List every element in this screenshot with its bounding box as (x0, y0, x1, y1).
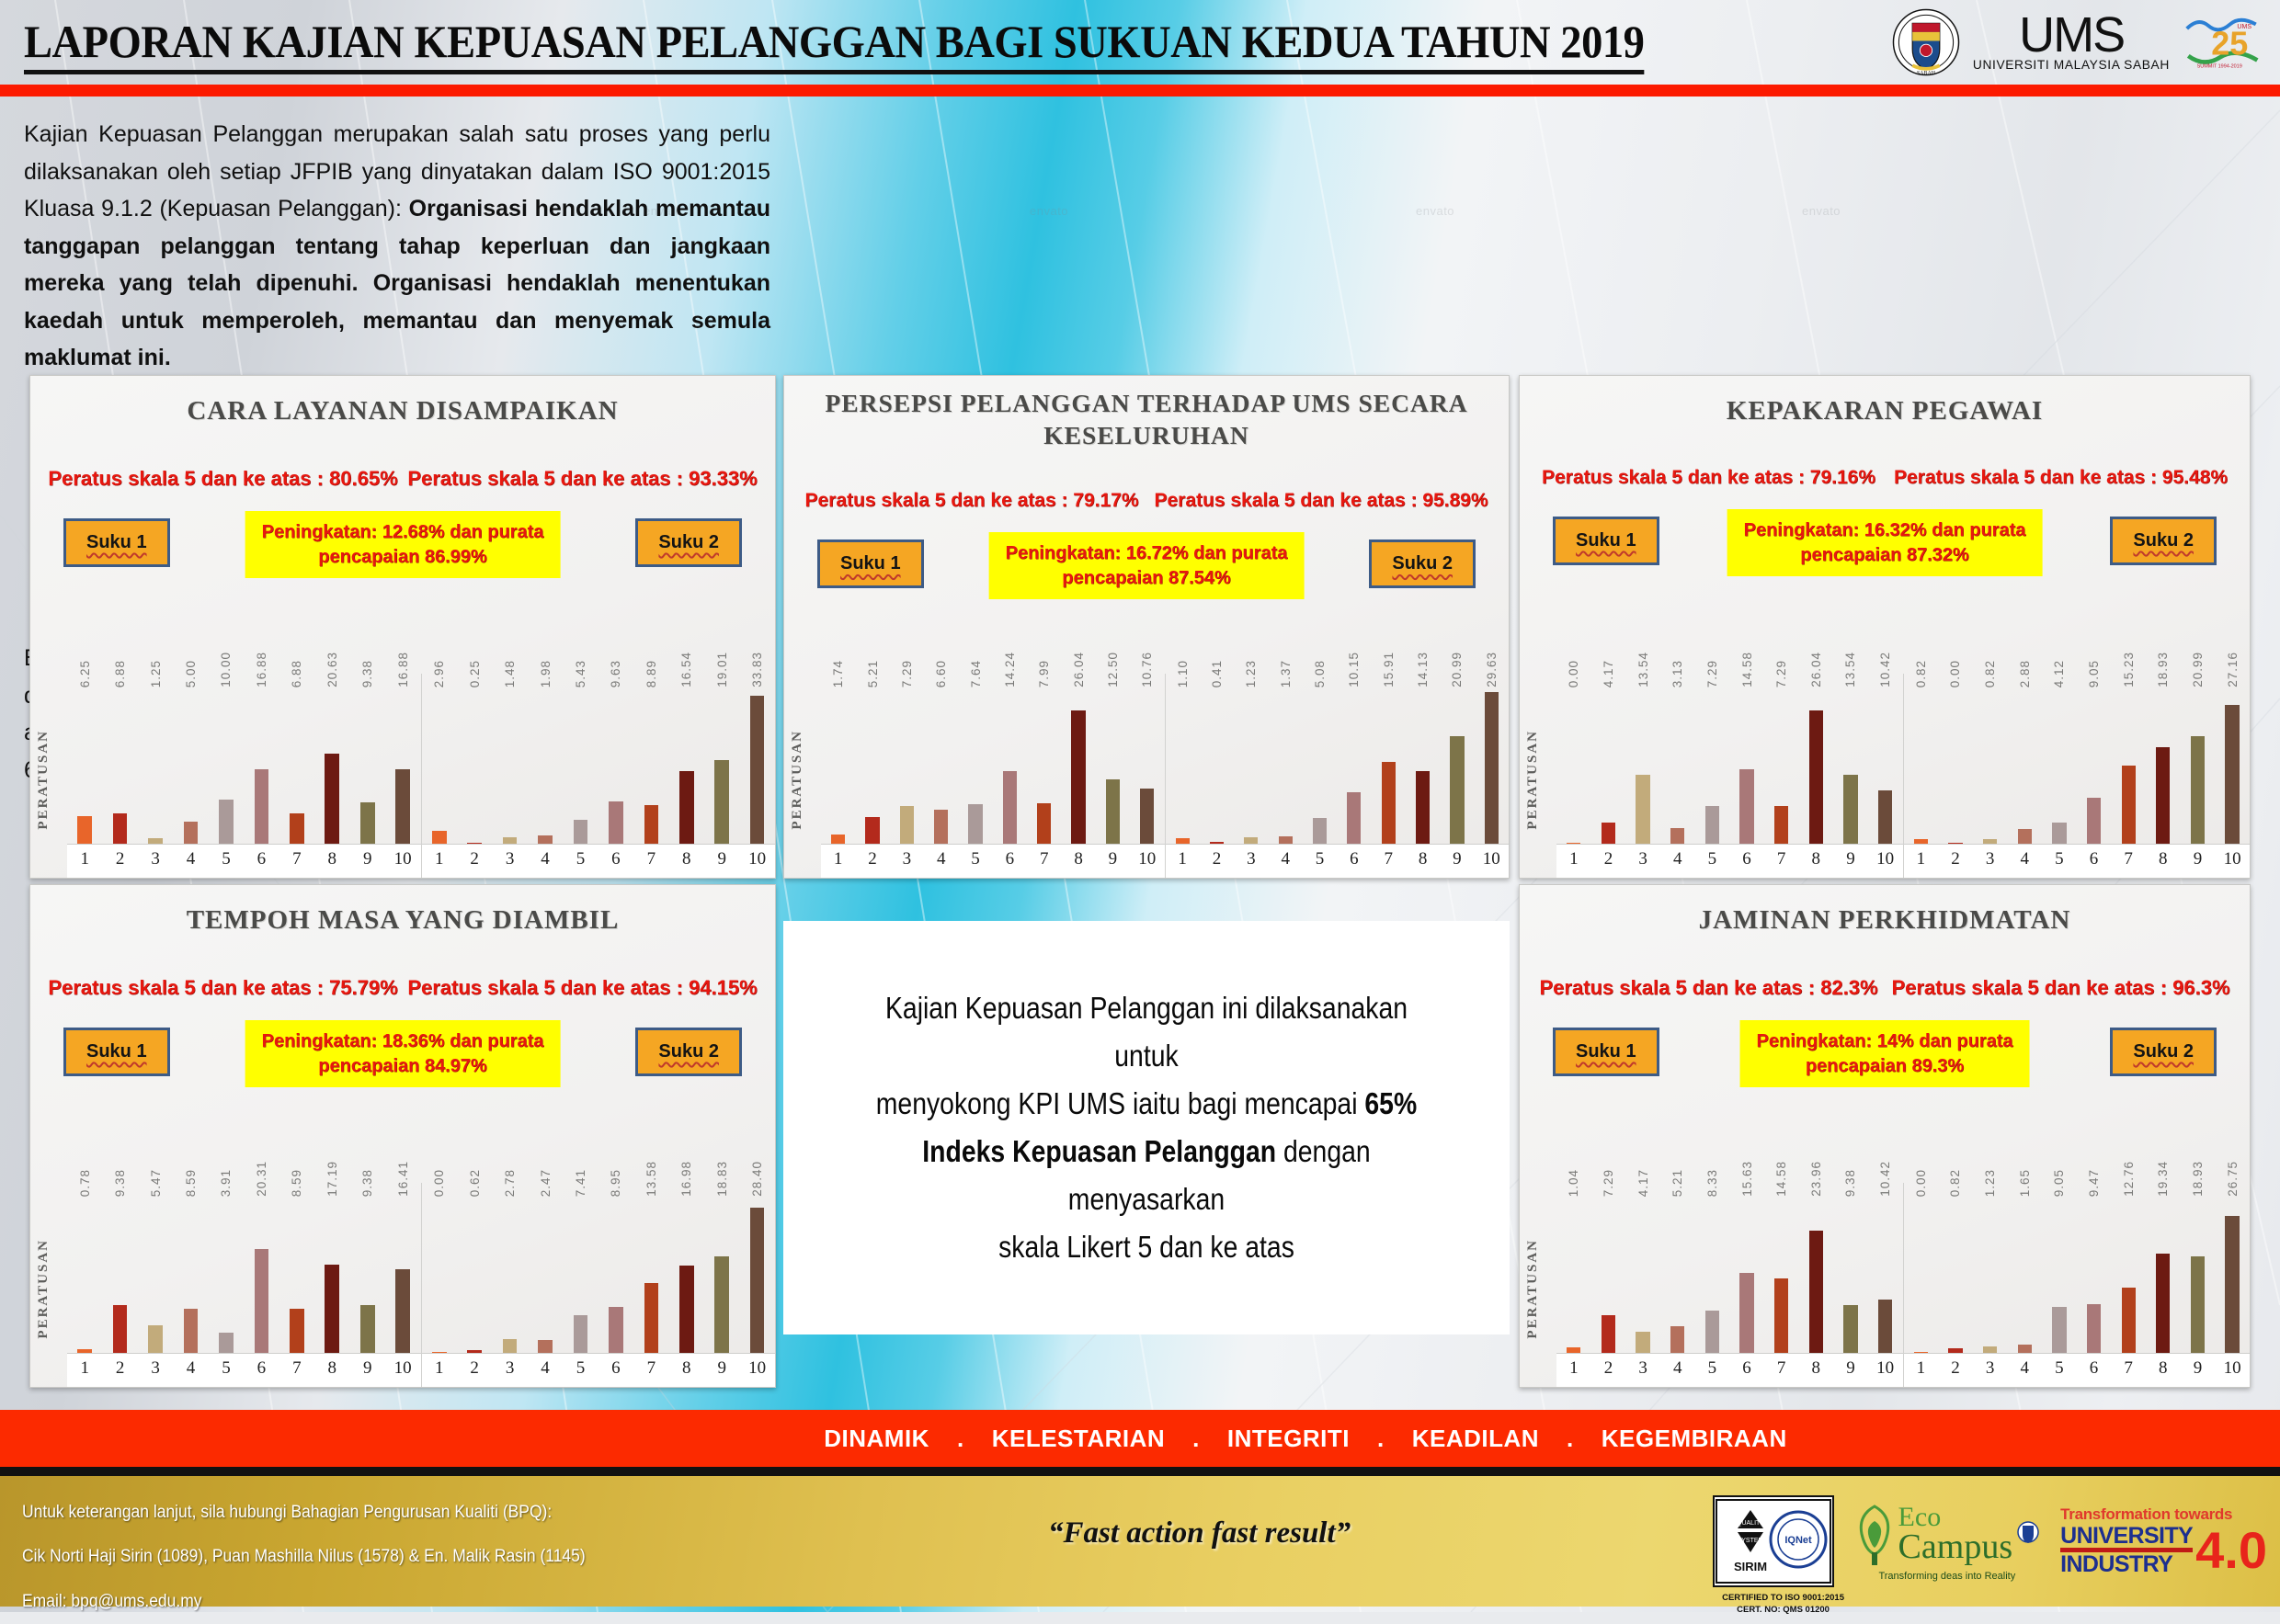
bar-area: 0.000.821.231.659.059.4712.7619.3418.932… (1904, 1199, 2251, 1354)
x-axis-tick-label: 10 (390, 849, 416, 869)
bar-column: 8.89 (638, 690, 664, 844)
bar-column: 15.23 (2115, 690, 2141, 844)
bar-column: 0.41 (1204, 690, 1230, 844)
bar-value-label: 16.88 (255, 652, 268, 687)
x-axis-tick-label: 6 (603, 1358, 629, 1379)
bar-value-label: 20.99 (1450, 652, 1464, 687)
bar (1843, 775, 1857, 844)
header-red-divider (0, 85, 2280, 97)
badge-suku-1: Suku 1 (1553, 517, 1659, 565)
bar-value-label: 1.37 (1279, 660, 1293, 687)
bar-value-label: 20.63 (325, 652, 339, 687)
bar-group-suku-2: 2.960.251.481.985.439.638.8916.5419.0133… (421, 674, 776, 878)
x-axis-tick-label: 1 (1169, 849, 1195, 869)
bar-column: 1.65 (2012, 1199, 2037, 1353)
bar-column: 5.08 (1307, 690, 1333, 844)
kpi-statement-text: Kajian Kepuasan Pelanggan ini dilaksanak… (866, 984, 1428, 1272)
bar-value-label: 1.23 (1244, 660, 1258, 687)
peningkatan-highlight: Peningkatan: 18.36% dan puratapencapaian… (245, 1020, 561, 1087)
bar (1567, 1347, 1580, 1353)
footer-slogan: “Fast action fast result” (1048, 1516, 1351, 1550)
ums-wordmark-text: UMS (2019, 13, 2124, 58)
bar-value-label: 0.82 (1914, 660, 1928, 687)
bar (679, 771, 694, 844)
x-axis-tick-label: 6 (1734, 849, 1760, 869)
bar (1809, 1231, 1823, 1353)
x-axis-tick-label: 5 (213, 849, 239, 869)
x-axis-tick-label: 2 (1943, 1358, 1968, 1379)
x-axis-tick-label: 7 (1769, 1358, 1795, 1379)
x-axis-tick-label: 8 (674, 1358, 700, 1379)
x-axis-tick-label: 10 (744, 849, 769, 869)
percentage-scale5-label: Peratus skala 5 dan ke atas : 94.15% (407, 976, 757, 1000)
x-axis-tick-label: 1 (1908, 849, 1933, 869)
bar-value-label: 33.83 (750, 652, 764, 687)
bar-column: 20.99 (1444, 690, 1470, 844)
bar (1670, 1326, 1684, 1353)
bar-area: 6.256.881.255.0010.0016.886.8820.639.381… (67, 690, 421, 845)
x-axis-tick-label: 9 (355, 1358, 381, 1379)
bar-value-label: 8.95 (609, 1169, 622, 1197)
bar (1416, 771, 1430, 844)
bar-value-label: 26.04 (1809, 652, 1823, 687)
percentage-scale5-label: Peratus skala 5 dan ke atas : 95.89% (1154, 490, 1488, 512)
bar (290, 1309, 304, 1353)
x-axis-tick-label: 5 (567, 849, 593, 869)
bar (467, 843, 482, 844)
bar (574, 820, 588, 844)
x-axis-ticks: 12345678910 (67, 846, 421, 872)
bar-column: 1.98 (532, 690, 558, 844)
bar-value-label: 7.64 (969, 660, 983, 687)
badge-suku-1: Suku 1 (1553, 1028, 1659, 1076)
bar (2191, 736, 2205, 844)
x-axis-tick-label: 1 (1908, 1358, 1933, 1379)
intro-paragraph-1-bold: Organisasi hendaklah memantau tanggapan … (24, 196, 770, 370)
chart-panel-jaminan-perkhidmatan: JAMINAN PERKHIDMATANPeratus skala 5 dan … (1519, 884, 2251, 1388)
chart-title: TEMPOH MASA YANG DIAMBIL (30, 885, 775, 937)
bar-value-label: 1.25 (149, 660, 163, 687)
bar-column: 5.43 (567, 690, 593, 844)
eco-campus-bottom-text: Campus (1898, 1530, 2013, 1563)
bar-column: 13.58 (638, 1199, 664, 1353)
bar-group-suku-1: 0.004.1713.543.137.2914.587.2926.0413.54… (1556, 674, 1903, 878)
x-axis-tick-label: 1 (1561, 849, 1587, 869)
x-axis-tick-label: 10 (390, 1358, 416, 1379)
bar (1843, 1305, 1857, 1353)
bar-value-label: 28.40 (750, 1161, 764, 1197)
bar-column: 4.17 (1596, 690, 1622, 844)
bar-value-label: 8.59 (184, 1169, 198, 1197)
bar (644, 805, 659, 844)
bar (538, 835, 553, 844)
bar (325, 754, 339, 844)
badge-suku-1: Suku 1 (63, 1028, 170, 1076)
core-value-item: INTEGRITI (1227, 1425, 1350, 1453)
x-axis-tick-label: 6 (248, 849, 274, 869)
x-axis-tick-label: 4 (1665, 1358, 1691, 1379)
core-values-separator: . (1567, 1425, 1574, 1453)
core-value-item: KELESTARIAN (992, 1425, 1165, 1453)
bar-column: 26.75 (2219, 1199, 2245, 1353)
x-axis-tick-label: 4 (532, 849, 558, 869)
x-axis-tick-label: 7 (284, 849, 310, 869)
y-axis-label: PERATUSAN (36, 1239, 51, 1339)
bar (1176, 838, 1190, 844)
bar-column: 9.63 (603, 690, 629, 844)
bar (1106, 779, 1120, 844)
percentage-summary-row: Peratus skala 5 dan ke atas : 79.17%Pera… (784, 490, 1509, 512)
bar-value-label: 29.63 (1485, 652, 1499, 687)
bar-area: 1.100.411.231.375.0810.1515.9114.1320.99… (1166, 690, 1510, 845)
bar-value-label: 7.29 (1774, 660, 1788, 687)
bar-column: 14.58 (1769, 1199, 1795, 1353)
bar-value-label: 8.33 (1705, 1169, 1719, 1197)
bar-column: 28.40 (744, 1199, 769, 1353)
eco-leaf-icon (1854, 1501, 1895, 1567)
eco-campus-tagline: Transforming deas into Reality (1878, 1571, 2015, 1582)
bar (1140, 789, 1154, 844)
bar (184, 1309, 199, 1353)
bar-column: 2.96 (427, 690, 452, 844)
bar (113, 813, 128, 844)
bar-column: 0.00 (1943, 690, 1968, 844)
bar-column: 33.83 (744, 690, 769, 844)
x-axis-tick-label: 4 (2012, 849, 2037, 869)
x-axis-tick-label: 2 (462, 849, 487, 869)
bar (1774, 806, 1788, 844)
bar-value-label: 14.58 (1774, 1161, 1788, 1197)
logo-row: SABAH UMS UNIVERSITI MALAYSIA SABAH 25 U… (1892, 4, 2262, 81)
bar-column: 6.88 (107, 690, 132, 844)
bar-value-label: 12.76 (2122, 1161, 2136, 1197)
bar-column: 1.23 (1978, 1199, 2003, 1353)
x-axis-tick-label: 7 (638, 1358, 664, 1379)
badge-suku-2: Suku 2 (1369, 539, 1476, 588)
x-axis-tick-label: 1 (1561, 1358, 1587, 1379)
bar-value-label: 7.29 (900, 660, 914, 687)
bar (609, 801, 623, 844)
svg-text:QUALITY: QUALITY (1737, 1520, 1764, 1527)
bar-value-label: 0.25 (468, 660, 482, 687)
x-axis-tick-label: 9 (1838, 1358, 1864, 1379)
ui40-number-text: 4.0 (2195, 1527, 2267, 1574)
bar-value-label: 2.47 (539, 1169, 553, 1197)
peningkatan-highlight: Peningkatan: 16.32% dan puratapencapaian… (1727, 509, 2043, 576)
bar-value-label: 0.00 (1914, 1169, 1928, 1197)
peningkatan-line-1: Peningkatan: 18.36% dan purata (262, 1029, 544, 1053)
bar-column: 0.00 (427, 1199, 452, 1353)
bar-value-label: 1.04 (1567, 1169, 1580, 1197)
bar-value-label: 14.13 (1416, 652, 1430, 687)
bar-column: 16.88 (248, 690, 274, 844)
x-axis-tick-label: 7 (1032, 849, 1057, 869)
x-axis-tick-label: 8 (1066, 849, 1091, 869)
bar-group-suku-2: 0.000.821.231.659.059.4712.7619.3418.932… (1903, 1183, 2251, 1387)
core-value-item: KEADILAN (1412, 1425, 1539, 1453)
page-title: LAPORAN KAJIAN KEPUASAN PELANGGAN BAGI S… (24, 15, 1644, 74)
bar-value-label: 20.99 (2191, 652, 2205, 687)
bar-value-label: 15.23 (2122, 652, 2136, 687)
bar-value-label: 4.17 (1636, 1169, 1650, 1197)
bar-value-label: 18.93 (2191, 1161, 2205, 1197)
x-axis-tick-label: 8 (319, 849, 345, 869)
bar-column: 5.47 (142, 1199, 168, 1353)
x-axis-tick-label: 2 (1596, 1358, 1622, 1379)
peningkatan-highlight: Peningkatan: 12.68% dan puratapencapaian… (245, 511, 561, 578)
x-axis-tick-label: 7 (1769, 849, 1795, 869)
bar-column: 14.24 (997, 690, 1023, 844)
bar-column: 8.59 (177, 1199, 203, 1353)
bar-column: 6.88 (284, 690, 310, 844)
bar-value-label: 16.41 (396, 1161, 410, 1197)
bar-column: 0.00 (1561, 690, 1587, 844)
bar-column: 9.38 (355, 1199, 381, 1353)
bar-column: 3.13 (1665, 690, 1691, 844)
bar-group-suku-2: 1.100.411.231.375.0810.1515.9114.1320.99… (1165, 674, 1510, 878)
core-values-separator: . (957, 1425, 964, 1453)
x-axis-tick-label: 2 (1204, 849, 1230, 869)
ums-wordmark-subtitle: UNIVERSITI MALAYSIA SABAH (1973, 58, 2170, 72)
bar (1983, 839, 1997, 844)
bar-column: 4.17 (1630, 1199, 1656, 1353)
bar-value-label: 0.41 (1210, 660, 1224, 687)
bar-area: 0.820.000.822.884.129.0515.2318.9320.992… (1904, 690, 2251, 845)
bar-column: 13.54 (1630, 690, 1656, 844)
chart-panel-kepakaran-pegawai: KEPAKARAN PEGAWAIPeratus skala 5 dan ke … (1519, 375, 2251, 879)
x-axis-tick-label: 2 (107, 1358, 132, 1379)
bar-column: 1.04 (1561, 1199, 1587, 1353)
bar (2122, 1288, 2136, 1353)
bar (1705, 1311, 1719, 1353)
bar-value-label: 19.01 (715, 652, 729, 687)
bar-column: 15.63 (1734, 1199, 1760, 1353)
bar-column: 20.31 (248, 1199, 274, 1353)
bar (360, 1305, 375, 1353)
x-axis-tick-label: 4 (177, 1358, 203, 1379)
bar (2122, 766, 2136, 844)
x-axis-tick-label: 8 (674, 849, 700, 869)
bar-value-label: 6.25 (78, 660, 92, 687)
bar (1705, 806, 1719, 844)
bar (184, 822, 199, 844)
bar (219, 800, 234, 844)
x-axis-ticks: 12345678910 (1904, 1356, 2251, 1381)
bar-value-label: 5.47 (149, 1169, 163, 1197)
x-axis-tick-label: 9 (1444, 849, 1470, 869)
x-axis-tick-label: 7 (2115, 1358, 2141, 1379)
x-axis-tick-label: 6 (997, 849, 1023, 869)
svg-text:SYSTEM: SYSTEM (1737, 1538, 1763, 1544)
badge-suku-1: Suku 1 (817, 539, 924, 588)
core-value-item: KEGEMBIRAAN (1602, 1425, 1787, 1453)
x-axis-tick-label: 3 (1630, 1358, 1656, 1379)
bar (1878, 1300, 1892, 1353)
bar-value-label: 10.76 (1140, 652, 1154, 687)
bar-column: 9.38 (107, 1199, 132, 1353)
x-axis-tick-label: 10 (1478, 849, 1504, 869)
bar (77, 1349, 92, 1353)
bar (1809, 710, 1823, 844)
bar-column: 15.91 (1375, 690, 1401, 844)
kpi-line-4: skala Likert 5 dan ke atas (998, 1230, 1294, 1264)
bar-column: 0.82 (1943, 1199, 1968, 1353)
badge-row: Suku 1Peningkatan: 12.68% dan puratapenc… (30, 511, 775, 575)
bar-value-label: 0.00 (1948, 660, 1962, 687)
bar (1602, 1315, 1615, 1353)
bar-value-label: 27.16 (2226, 652, 2240, 687)
bar-column: 8.95 (603, 1199, 629, 1353)
bar-value-label: 14.24 (1003, 652, 1017, 687)
bar-column: 16.41 (390, 1199, 416, 1353)
bar (432, 831, 447, 844)
bar-value-label: 10.42 (1878, 1161, 1892, 1197)
bar-value-label: 8.89 (644, 660, 658, 687)
percentage-scale5-label: Peratus skala 5 dan ke atas : 80.65% (48, 467, 397, 491)
ums-crest-icon: SABAH (1892, 8, 1960, 76)
percentage-summary-row: Peratus skala 5 dan ke atas : 75.79%Pera… (30, 976, 775, 1000)
bar-column: 8.33 (1699, 1199, 1725, 1353)
x-axis-tick-label: 3 (496, 849, 522, 869)
x-axis-tick-label: 3 (142, 849, 168, 869)
bar (2087, 1304, 2101, 1353)
bar-column: 6.25 (72, 690, 97, 844)
svg-text:IQNet: IQNet (1784, 1535, 1812, 1546)
bar (1244, 837, 1258, 844)
bar-value-label: 9.38 (113, 1169, 127, 1197)
percentage-summary-row: Peratus skala 5 dan ke atas : 80.65%Pera… (30, 467, 775, 491)
svg-text:SABAH: SABAH (1917, 71, 1936, 76)
x-axis-tick-label: 5 (1699, 849, 1725, 869)
bar-value-label: 26.04 (1072, 652, 1086, 687)
bar-group-suku-1: 1.047.294.175.218.3315.6314.5823.969.381… (1556, 1183, 1903, 1387)
x-axis-ticks: 12345678910 (422, 1356, 776, 1381)
bar-column: 20.63 (319, 690, 345, 844)
bar-group-suku-2: 0.000.622.782.477.418.9513.5816.9818.832… (421, 1183, 776, 1387)
chart-title: PERSEPSI PELANGGAN TERHADAP UMS SECARA K… (784, 376, 1509, 451)
bar-group-suku-1: 6.256.881.255.0010.0016.886.8820.639.381… (67, 674, 421, 878)
bar-column: 20.99 (2185, 690, 2211, 844)
plot-area: PERATUSAN0.789.385.478.593.9120.318.5917… (30, 1183, 775, 1387)
core-values-list: DINAMIK.KELESTARIAN.INTEGRITI.KEADILAN.K… (493, 1425, 1786, 1453)
x-axis-tick-label: 5 (963, 849, 988, 869)
x-axis-tick-label: 3 (1978, 1358, 2003, 1379)
bar (1670, 828, 1684, 844)
x-axis-tick-label: 3 (496, 1358, 522, 1379)
x-axis-tick-label: 6 (248, 1358, 274, 1379)
x-axis-tick-label: 2 (1596, 849, 1622, 869)
bar-value-label: 18.83 (715, 1161, 729, 1197)
badge-suku-2: Suku 2 (2110, 517, 2217, 565)
bar (934, 810, 948, 844)
bar-area: 0.000.622.782.477.418.9513.5816.9818.832… (422, 1199, 776, 1354)
x-axis-tick-label: 3 (1238, 849, 1264, 869)
bar-column: 26.04 (1066, 690, 1091, 844)
bar-column: 0.82 (1908, 690, 1933, 844)
badge-row: Suku 1Peningkatan: 14% dan puratapencapa… (1520, 1020, 2250, 1085)
bar-column: 6.60 (929, 690, 954, 844)
bar-column: 23.96 (1803, 1199, 1829, 1353)
kpi-target-percent: 65% (1364, 1086, 1417, 1120)
bar-value-label: 0.62 (468, 1169, 482, 1197)
percentage-scale5-label: Peratus skala 5 dan ke atas : 96.3% (1891, 976, 2229, 1000)
bar-value-label: 10.42 (1878, 652, 1892, 687)
bar-value-label: 5.08 (1313, 660, 1327, 687)
percentage-scale5-label: Peratus skala 5 dan ke atas : 79.17% (804, 490, 1138, 512)
percentage-scale5-label: Peratus skala 5 dan ke atas : 79.16% (1542, 467, 1875, 489)
bar-column: 16.98 (674, 1199, 700, 1353)
bar-value-label: 10.00 (219, 652, 233, 687)
bar (679, 1266, 694, 1353)
bar-value-label: 9.47 (2087, 1169, 2101, 1197)
percentage-scale5-label: Peratus skala 5 dan ke atas : 82.3% (1539, 976, 1877, 1000)
bar-column: 9.47 (2081, 1199, 2107, 1353)
bar-column: 3.91 (213, 1199, 239, 1353)
bar-column: 12.76 (2115, 1199, 2141, 1353)
bar-value-label: 9.63 (609, 660, 622, 687)
footer-black-divider (0, 1467, 2280, 1476)
kpi-line-2-prefix: menyokong KPI UMS iaitu bagi mencapai (876, 1086, 1365, 1120)
bar-column: 1.23 (1238, 690, 1264, 844)
x-axis-tick-label: 4 (2012, 1358, 2037, 1379)
bar-column: 2.78 (496, 1199, 522, 1353)
x-axis-tick-label: 2 (860, 849, 885, 869)
bar (714, 760, 729, 844)
sirim-caption-line-1: CERTIFIED TO ISO 9001:2015 (1715, 1593, 1852, 1605)
bar (2225, 705, 2239, 844)
x-axis-tick-label: 9 (355, 849, 381, 869)
bar (2018, 829, 2032, 844)
bar (1636, 775, 1649, 844)
bar-group-suku-1: 0.789.385.478.593.9120.318.5917.199.3816… (67, 1183, 421, 1387)
bar (2052, 823, 2066, 844)
x-axis-ticks: 12345678910 (1556, 1356, 1903, 1381)
bar-group-suku-1: 1.745.217.296.607.6414.247.9926.0412.501… (821, 674, 1165, 878)
contact-line-2: Cik Norti Haji Sirin (1089), Puan Mashil… (22, 1535, 586, 1579)
bar-column: 7.29 (1596, 1199, 1622, 1353)
bar-column: 1.25 (142, 690, 168, 844)
university-industry-40-logo: Transformation towards UNIVERSITY INDUST… (2060, 1505, 2267, 1578)
svg-text:UMS: UMS (2237, 24, 2251, 30)
bar (2087, 798, 2101, 844)
bar (538, 1340, 553, 1353)
bar-value-label: 2.88 (2018, 660, 2032, 687)
bar-value-label: 13.54 (1843, 652, 1857, 687)
x-axis-tick-label: 3 (142, 1358, 168, 1379)
bar-value-label: 3.13 (1670, 660, 1684, 687)
bar-value-label: 23.96 (1809, 1161, 1823, 1197)
x-axis-tick-label: 9 (1838, 849, 1864, 869)
bar (1914, 839, 1928, 844)
bar-value-label: 1.48 (503, 660, 517, 687)
chart-panel-persepsi-pelanggan: PERSEPSI PELANGGAN TERHADAP UMS SECARA K… (783, 375, 1510, 879)
chart-title: JAMINAN PERKHIDMATAN (1520, 885, 2250, 937)
bar (325, 1265, 339, 1353)
bar-column: 27.16 (2219, 690, 2245, 844)
ui40-industry-text: INDUSTRY (2060, 1552, 2193, 1578)
bar (1279, 836, 1293, 844)
bar-value-label: 5.21 (866, 660, 880, 687)
bar-column: 5.00 (177, 690, 203, 844)
bar (148, 1325, 163, 1353)
bar-column: 29.63 (1478, 690, 1504, 844)
sirim-caption-line-2: CERT. NO: QMS 01200 (1715, 1605, 1852, 1617)
bar-area: 1.745.217.296.607.6414.247.9926.0412.501… (821, 690, 1165, 845)
ui40-main-row: UNIVERSITY INDUSTRY 4.0 (2060, 1524, 2267, 1578)
contact-email[interactable]: Email: bpq@ums.edu.my (22, 1580, 586, 1624)
bar-column: 7.29 (1699, 690, 1725, 844)
x-axis-tick-label: 6 (1341, 849, 1367, 869)
